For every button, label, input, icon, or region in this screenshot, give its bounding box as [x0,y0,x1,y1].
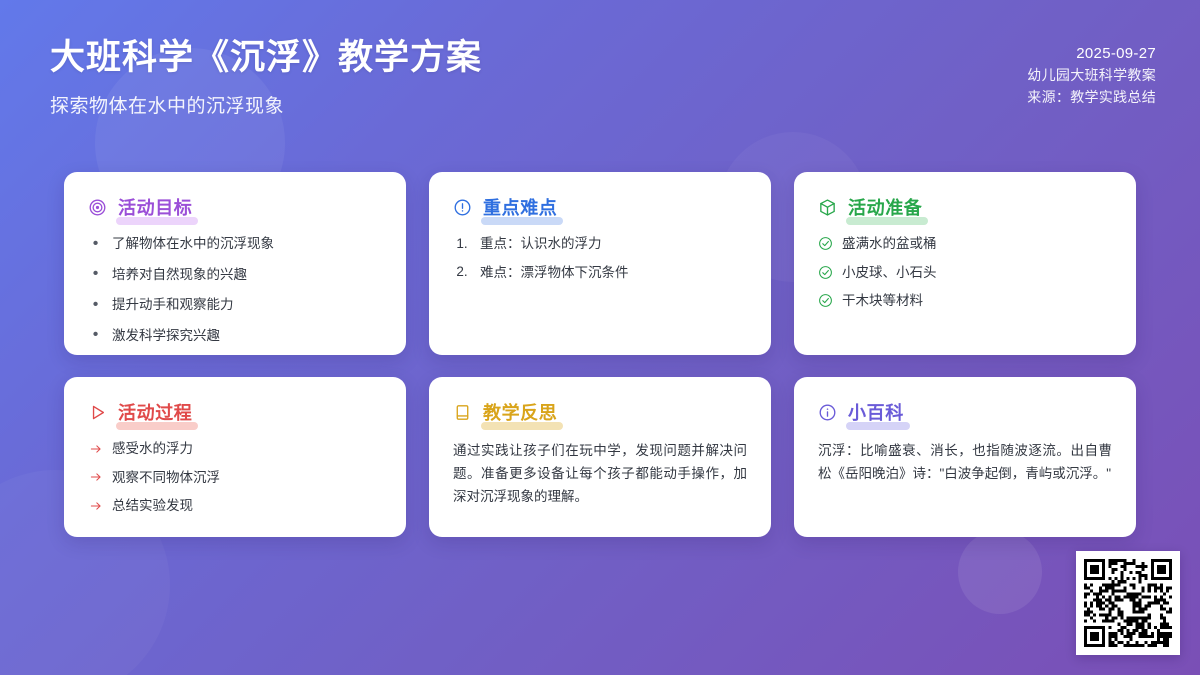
bullet-list: •了解物体在水中的沉浮现象•培养对自然现象的兴趣•提升动手和观察能力•激发科学探… [88,234,382,345]
list-item-label: 难点：漂浮物体下沉条件 [480,263,629,283]
check-circle-icon [818,265,833,280]
list-item-number: 2. [453,263,471,282]
meta-block: 2025-09-27 幼儿园大班科学教案 来源：教学实践总结 [1027,36,1156,109]
arrow-right-icon [89,442,103,456]
poster-header: 大班科学《沉浮》教学方案 探索物体在水中的沉浮现象 2025-09-27 幼儿园… [0,0,1200,150]
card-title: 活动准备 [846,194,924,221]
card-title: 活动过程 [116,399,194,426]
date-text: 2025-09-27 [1027,42,1156,65]
card-objectives: 活动目标•了解物体在水中的沉浮现象•培养对自然现象的兴趣•提升动手和观察能力•激… [64,172,406,355]
card-reflection: 教学反思通过实践让孩子们在玩中学，发现问题并解决问题。准备更多设备让每个孩子都能… [429,377,771,537]
play-triangle-icon [88,403,107,422]
category-text: 幼儿园大班科学教案 [1027,65,1156,87]
list-item: 2.难点：漂浮物体下沉条件 [453,263,747,283]
card-header: 活动准备 [818,194,1112,221]
card-header: 教学反思 [453,399,747,426]
decorative-circle-3 [958,530,1042,614]
list-item-label: 培养对自然现象的兴趣 [112,265,247,285]
info-circle-icon [818,403,837,422]
list-item: 观察不同物体沉浮 [88,468,382,488]
title-block: 大班科学《沉浮》教学方案 探索物体在水中的沉浮现象 [50,36,482,118]
card-paragraph: 沉浮：比喻盛衰、消长，也指随波逐流。出自曹松《岳阳晚泊》诗："白波争起倒，青屿或… [818,439,1112,485]
card-title: 活动目标 [116,194,194,221]
card-process: 活动过程感受水的浮力观察不同物体沉浮总结实验发现 [64,377,406,537]
list-item-label: 了解物体在水中的沉浮现象 [112,234,274,254]
card-paragraph: 通过实践让孩子们在玩中学，发现问题并解决问题。准备更多设备让每个孩子都能动手操作… [453,439,747,509]
check-list: 盛满水的盆或桶小皮球、小石头干木块等材料 [818,234,1112,311]
list-item-label: 总结实验发现 [112,496,193,516]
list-item-label: 提升动手和观察能力 [112,295,234,315]
card-title: 小百科 [846,399,906,426]
check-marker [818,291,833,310]
card-encyclopedia: 小百科沉浮：比喻盛衰、消长，也指随波逐流。出自曹松《岳阳晚泊》诗："白波争起倒，… [794,377,1136,537]
list-item-label: 激发科学探究兴趣 [112,326,220,346]
card-header: 重点难点 [453,194,747,221]
bullet-dot-icon: • [88,326,103,345]
card-title: 教学反思 [481,399,559,426]
list-item: •提升动手和观察能力 [88,295,382,315]
qr-code[interactable] [1076,551,1180,655]
card-title: 重点难点 [481,194,559,221]
book-icon [453,403,472,422]
page-subtitle: 探索物体在水中的沉浮现象 [50,91,482,118]
page-title: 大班科学《沉浮》教学方案 [50,36,482,80]
list-item: •了解物体在水中的沉浮现象 [88,234,382,254]
list-item: 总结实验发现 [88,496,382,516]
check-marker [818,263,833,282]
list-item: 盛满水的盆或桶 [818,234,1112,254]
check-marker [818,234,833,253]
bullet-dot-icon: • [88,234,103,253]
list-item: 感受水的浮力 [88,439,382,459]
exclamation-circle-icon [453,198,472,217]
list-item: •激发科学探究兴趣 [88,326,382,346]
list-item: 1.重点：认识水的浮力 [453,234,747,254]
list-item-label: 小皮球、小石头 [842,263,937,283]
poster-canvas: 大班科学《沉浮》教学方案 探索物体在水中的沉浮现象 2025-09-27 幼儿园… [0,0,1200,675]
numbered-list: 1.重点：认识水的浮力2.难点：漂浮物体下沉条件 [453,234,747,282]
card-header: 小百科 [818,399,1112,426]
card-header: 活动过程 [88,399,382,426]
list-item-number: 1. [453,234,471,253]
list-item-label: 观察不同物体沉浮 [112,468,220,488]
list-item-label: 感受水的浮力 [112,439,193,459]
arrow-marker [88,496,103,515]
list-item: 小皮球、小石头 [818,263,1112,283]
target-icon [88,198,107,217]
card-header: 活动目标 [88,194,382,221]
arrow-right-icon [89,499,103,513]
arrow-list: 感受水的浮力观察不同物体沉浮总结实验发现 [88,439,382,516]
list-item: •培养对自然现象的兴趣 [88,265,382,285]
card-preparation: 活动准备盛满水的盆或桶小皮球、小石头干木块等材料 [794,172,1136,355]
source-text: 来源：教学实践总结 [1027,87,1156,109]
arrow-marker [88,468,103,487]
box-icon [818,198,837,217]
arrow-marker [88,439,103,458]
check-circle-icon [818,293,833,308]
bullet-dot-icon: • [88,295,103,314]
check-circle-icon [818,236,833,251]
arrow-right-icon [89,470,103,484]
qr-code-image [1084,559,1172,647]
list-item-label: 盛满水的盆或桶 [842,234,937,254]
list-item-label: 重点：认识水的浮力 [480,234,602,254]
bullet-dot-icon: • [88,265,103,284]
card-key-points: 重点难点1.重点：认识水的浮力2.难点：漂浮物体下沉条件 [429,172,771,355]
list-item: 干木块等材料 [818,291,1112,311]
list-item-label: 干木块等材料 [842,291,923,311]
card-grid: 活动目标•了解物体在水中的沉浮现象•培养对自然现象的兴趣•提升动手和观察能力•激… [64,172,1136,537]
